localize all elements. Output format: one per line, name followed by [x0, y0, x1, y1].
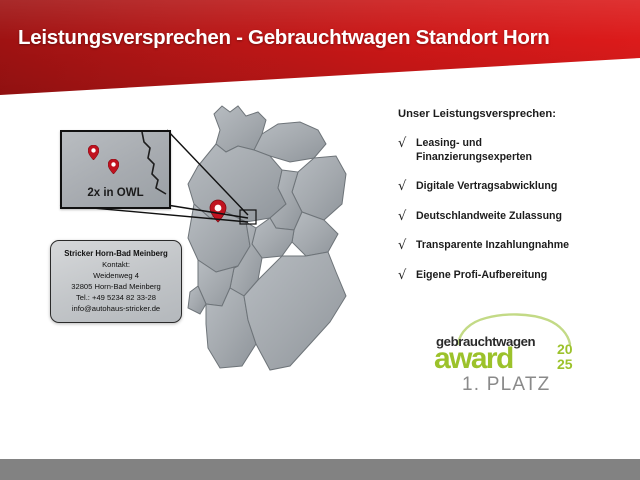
promise-item-label: Digitale Vertragsabwicklung: [416, 180, 557, 194]
contact-line-street: Weidenweg 4: [57, 270, 175, 281]
promise-item-5: √ Eigene Profi-Aufbereitung: [398, 269, 634, 283]
page-title: Leistungsversprechen - Gebrauchtwagen St…: [18, 26, 630, 50]
promise-item-2: √ Digitale Vertragsabwicklung: [398, 180, 634, 194]
promise-list: Unser Leistungsversprechen: √ Leasing- u…: [398, 108, 634, 298]
promise-item-label: Eigene Profi-Aufbereitung: [416, 269, 547, 283]
owl-zoom-callout: 2x in OWL: [60, 130, 171, 209]
owl-callout-label: 2x in OWL: [62, 187, 169, 199]
award-year-top: 20: [557, 342, 573, 357]
footer-strip: [0, 459, 640, 480]
promise-item-label: Leasing- undFinanzierungsexperten: [416, 137, 532, 164]
check-icon: √: [398, 210, 416, 223]
contact-line-kontakt: Kontakt:: [57, 259, 175, 270]
award-badge: gebrauchtwagen award 20 25 1. PLATZ: [428, 312, 588, 398]
check-icon: √: [398, 269, 416, 282]
promise-item-4: √ Transparente Inzahlungnahme: [398, 239, 634, 253]
promise-heading: Unser Leistungsversprechen:: [398, 108, 634, 120]
promise-item-label: Transparente Inzahlungnahme: [416, 239, 569, 253]
contact-line-city: 32805 Horn-Bad Meinberg: [57, 281, 175, 292]
contact-line-phone: Tel.: +49 5234 82 33-28: [57, 292, 175, 303]
owl-pin-2: [108, 159, 119, 174]
check-icon: √: [398, 239, 416, 252]
contact-card: Stricker Horn-Bad Meinberg Kontakt: Weid…: [50, 240, 182, 323]
award-rank: 1. PLATZ: [462, 374, 550, 396]
contact-line-name: Stricker Horn-Bad Meinberg: [57, 248, 175, 259]
promise-item-1-line1: Leasing- undFinanzierungsexperten: [416, 137, 532, 164]
award-word: award: [434, 344, 513, 374]
owl-pin-1: [88, 145, 99, 160]
promise-item-label: Deutschlandweite Zulassung: [416, 210, 562, 224]
slide-root: Leistungsversprechen - Gebrauchtwagen St…: [0, 0, 640, 480]
check-icon: √: [398, 137, 416, 150]
promise-item-1: √ Leasing- undFinanzierungsexperten: [398, 137, 634, 164]
award-year-bottom: 25: [557, 357, 573, 372]
award-year: 20 25: [557, 342, 573, 371]
check-icon: √: [398, 180, 416, 193]
promise-item-3: √ Deutschlandweite Zulassung: [398, 210, 634, 224]
partner-logo-bar: Horn Nutzfahrzeuge Service SKODA Service: [0, 404, 640, 460]
contact-line-email: info@autohaus-stricker.de: [57, 303, 175, 314]
